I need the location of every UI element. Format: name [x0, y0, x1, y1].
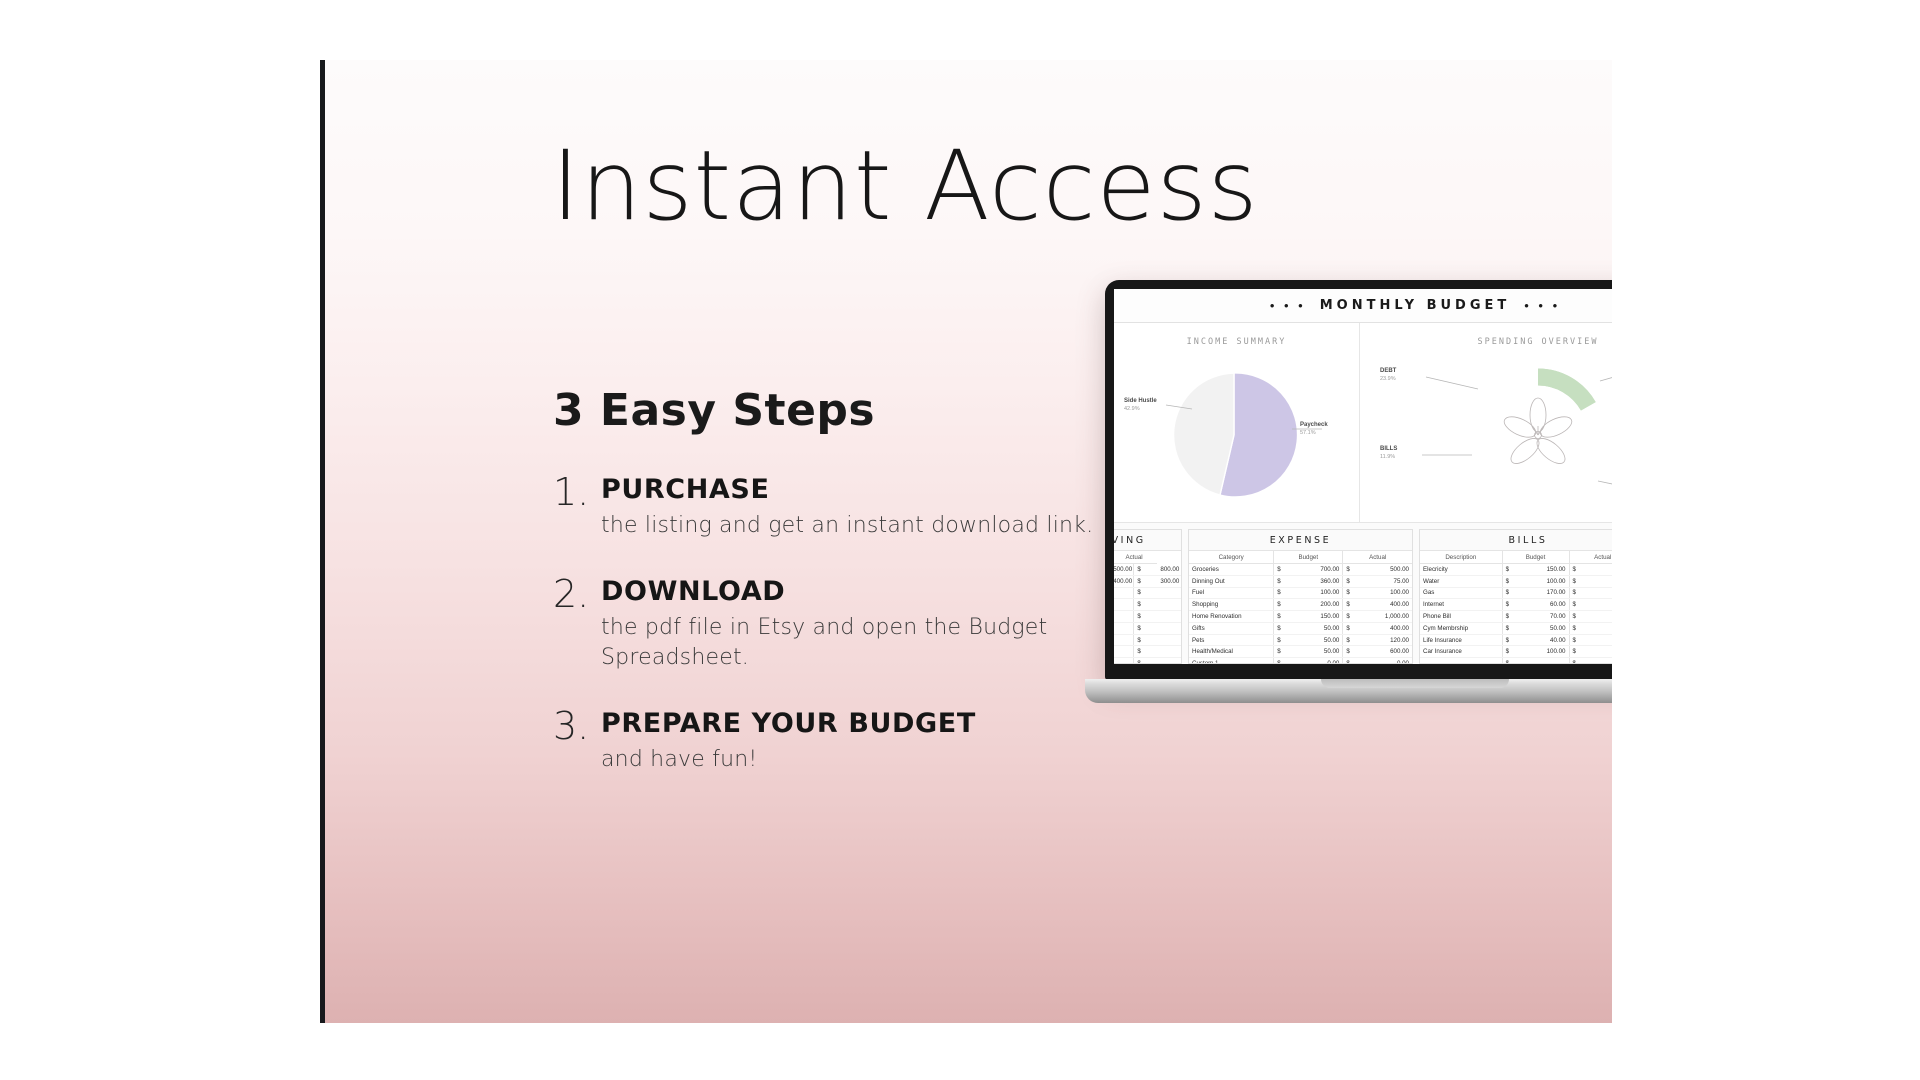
- cell-currency: $: [1502, 587, 1535, 599]
- cell-budget: 0.00: [1308, 658, 1343, 664]
- cell-actual: [1157, 611, 1181, 623]
- cell-currency: $: [1134, 658, 1158, 664]
- cell-category: Elecricity: [1420, 564, 1502, 576]
- step-item-2: 2. DOWNLOAD the pdf file in Etsy and ope…: [553, 576, 1113, 672]
- step-title: DOWNLOAD: [601, 576, 1113, 607]
- cell-currency: $: [1134, 611, 1158, 623]
- table-row[interactable]: $400.00$300.00: [1114, 575, 1181, 587]
- cell-currency: $: [1343, 575, 1378, 587]
- table-row[interactable]: Car Insurance$100.00$120.00: [1420, 646, 1612, 658]
- cell-actual: 200.00: [1603, 587, 1613, 599]
- cell-category: Dinning Out: [1189, 575, 1274, 587]
- cell-currency: $: [1343, 564, 1378, 576]
- cell-actual: 120.00: [1377, 634, 1412, 646]
- table-row[interactable]: $500.00$800.00: [1114, 564, 1181, 576]
- cell-currency: $: [1569, 587, 1602, 599]
- cell-currency: $: [1502, 575, 1535, 587]
- table-row[interactable]: Pets$50.00$120.00: [1189, 634, 1412, 646]
- cell-budget: 50.00: [1308, 634, 1343, 646]
- cell-currency: $: [1569, 658, 1602, 664]
- bills-col-description: Description: [1420, 551, 1502, 564]
- step-description: and have fun!: [601, 745, 1113, 774]
- expense-col-category: Category: [1189, 551, 1274, 564]
- cell-category: [1420, 658, 1502, 664]
- cell-actual: 500.00: [1377, 564, 1412, 576]
- charts-row: INCOME SUMMARY Paycheck: [1114, 323, 1612, 523]
- pie-label-paycheck-name: Paycheck: [1300, 421, 1328, 429]
- cell-category: Pets: [1189, 634, 1274, 646]
- table-row[interactable]: Life Insurance$40.00$50.00: [1420, 634, 1612, 646]
- cell-budget: 70.00: [1536, 611, 1569, 623]
- table-row[interactable]: Groceries$700.00$500.00: [1189, 564, 1412, 576]
- cell-budget: 150.00: [1536, 564, 1569, 576]
- step-number: 3.: [553, 704, 589, 748]
- cell-actual: 75.00: [1377, 575, 1412, 587]
- bills-col-budget: Budget: [1502, 551, 1569, 564]
- donut-label-debt: DEBT 23.9%: [1380, 367, 1396, 384]
- cell-actual: 50.00: [1603, 634, 1613, 646]
- table-row[interactable]: Health/Medical$50.00$600.00: [1189, 646, 1412, 658]
- cell-currency: $: [1134, 599, 1158, 611]
- donut-label-debt-value: 23.9%: [1380, 376, 1396, 382]
- cell-currency: $: [1134, 587, 1158, 599]
- pie-label-side-hustle-value: 42.9%: [1124, 406, 1140, 412]
- bills-table-caption: BILLS: [1420, 530, 1612, 551]
- cell-budget: [1114, 587, 1134, 599]
- marketing-slide: Instant Access 3 Easy Steps 1. PURCHASE …: [320, 60, 1612, 1023]
- cell-currency: $: [1502, 564, 1535, 576]
- cell-actual: 1,000.00: [1377, 611, 1412, 623]
- table-row[interactable]: $$: [1420, 658, 1612, 664]
- expense-col-budget: Budget: [1274, 551, 1343, 564]
- cell-actual: 600.00: [1377, 646, 1412, 658]
- income-summary-panel: INCOME SUMMARY Paycheck: [1114, 323, 1360, 522]
- cell-currency: $: [1134, 622, 1158, 634]
- cell-currency: $: [1502, 658, 1535, 664]
- pie-label-side-hustle: Side Hustle 42.9%: [1124, 397, 1157, 414]
- table-row[interactable]: Shopping$200.00$400.00: [1189, 599, 1412, 611]
- cell-budget: [1536, 658, 1569, 664]
- cell-category: Shopping: [1189, 599, 1274, 611]
- cell-budget: 150.00: [1308, 611, 1343, 623]
- steps-block: 3 Easy Steps 1. PURCHASE the listing and…: [553, 385, 1113, 810]
- table-row[interactable]: $$: [1114, 611, 1181, 623]
- cell-actual: [1157, 599, 1181, 611]
- step-description: the pdf file in Etsy and open the Budget…: [601, 613, 1113, 672]
- step-item-3: 3. PREPARE YOUR BUDGET and have fun!: [553, 708, 1113, 774]
- cell-currency: $: [1343, 634, 1378, 646]
- cell-budget: [1114, 634, 1134, 646]
- cell-category: Phone Bill: [1420, 611, 1502, 623]
- spreadsheet-title: MONTHLY BUDGET: [1320, 298, 1511, 313]
- cell-currency: $: [1274, 658, 1309, 664]
- table-row[interactable]: Water$100.00$75.00: [1420, 575, 1612, 587]
- table-row[interactable]: $$: [1114, 587, 1181, 599]
- laptop-notch: [1321, 679, 1509, 688]
- cell-budget: 100.00: [1308, 587, 1343, 599]
- cell-currency: $: [1569, 634, 1602, 646]
- donut-label-bills-name: BILLS: [1380, 445, 1397, 453]
- cell-currency: $: [1274, 646, 1309, 658]
- cell-category: Health/Medical: [1189, 646, 1274, 658]
- budget-spreadsheet: • • • MONTHLY BUDGET • • • INCOME SUMMAR…: [1114, 289, 1612, 664]
- bills-table-card: BILLS Description Budget Actual Elecrici…: [1419, 529, 1612, 664]
- cell-currency: $: [1134, 634, 1158, 646]
- cell-currency: $: [1569, 611, 1602, 623]
- expense-col-actual: Actual: [1343, 551, 1412, 564]
- cell-budget: 50.00: [1308, 622, 1343, 634]
- cell-currency: $: [1502, 599, 1535, 611]
- pie-label-paycheck: Paycheck 57.1%: [1300, 421, 1328, 438]
- table-row[interactable]: Dinning Out$360.00$75.00: [1189, 575, 1412, 587]
- cell-currency: $: [1134, 575, 1158, 587]
- table-row[interactable]: Home Renovation$150.00$1,000.00: [1189, 611, 1412, 623]
- saving-table-card: SAVING Budget Actual $500.00$800.00$400.…: [1114, 529, 1182, 664]
- donut-label-bills: BILLS 11.9%: [1380, 445, 1397, 462]
- cell-actual: 100.00: [1603, 564, 1613, 576]
- cell-budget: 50.00: [1536, 622, 1569, 634]
- spending-donut-chart: [1360, 323, 1612, 523]
- table-row[interactable]: Cym Membrship$50.00$50.00: [1420, 622, 1612, 634]
- cell-budget: [1114, 622, 1134, 634]
- cell-category: Cym Membrship: [1420, 622, 1502, 634]
- cell-budget: [1114, 658, 1134, 664]
- saving-table-caption: SAVING: [1114, 530, 1181, 551]
- cell-actual: [1157, 646, 1181, 658]
- cell-category: Gas: [1420, 587, 1502, 599]
- table-row[interactable]: $$: [1114, 646, 1181, 658]
- cell-currency: $: [1343, 611, 1378, 623]
- expense-table-caption: EXPENSE: [1189, 530, 1412, 551]
- table-row[interactable]: Fuel$100.00$100.00: [1189, 587, 1412, 599]
- cell-currency: $: [1274, 634, 1309, 646]
- step-number: 1.: [553, 470, 589, 514]
- pie-label-side-hustle-name: Side Hustle: [1124, 397, 1157, 405]
- cell-currency: $: [1274, 611, 1309, 623]
- table-header-row: Description Budget Actual: [1420, 551, 1612, 564]
- cell-actual: [1157, 658, 1181, 664]
- cell-actual: [1603, 658, 1613, 664]
- cell-currency: $: [1502, 611, 1535, 623]
- cell-budget: 400.00: [1114, 575, 1134, 587]
- page-title: Instant Access: [325, 138, 1485, 234]
- cell-budget: 700.00: [1308, 564, 1343, 576]
- spreadsheet-header: • • • MONTHLY BUDGET • • •: [1114, 289, 1612, 323]
- cell-currency: $: [1343, 622, 1378, 634]
- table-row[interactable]: Elecricity$150.00$100.00: [1420, 564, 1612, 576]
- laptop-mockup: • • • MONTHLY BUDGET • • • INCOME SUMMAR…: [1085, 280, 1612, 760]
- donut-label-bills-value: 11.9%: [1380, 454, 1395, 460]
- steps-heading: 3 Easy Steps: [553, 385, 1113, 436]
- cell-category: Water: [1420, 575, 1502, 587]
- cell-currency: $: [1343, 658, 1378, 664]
- table-header-row: Category Budget Actual: [1189, 551, 1412, 564]
- bills-col-actual: Actual: [1569, 551, 1612, 564]
- cell-category: Car Insurance: [1420, 646, 1502, 658]
- cell-budget: [1114, 599, 1134, 611]
- cell-actual: 75.00: [1603, 575, 1613, 587]
- table-row[interactable]: $$: [1114, 622, 1181, 634]
- table-row[interactable]: $$: [1114, 658, 1181, 664]
- cell-actual: 0.00: [1377, 658, 1412, 664]
- cell-actual: [1157, 587, 1181, 599]
- tables-row: SAVING Budget Actual $500.00$800.00$400.…: [1114, 523, 1612, 664]
- cell-actual: 300.00: [1157, 575, 1181, 587]
- cell-budget: 60.00: [1536, 599, 1569, 611]
- step-title: PREPARE YOUR BUDGET: [601, 708, 1113, 739]
- cell-category: Fuel: [1189, 587, 1274, 599]
- dots-right-icon: • • •: [1510, 298, 1574, 313]
- cell-budget: 100.00: [1536, 575, 1569, 587]
- cell-currency: $: [1343, 587, 1378, 599]
- cell-currency: $: [1502, 634, 1535, 646]
- table-row[interactable]: $$: [1114, 634, 1181, 646]
- cell-actual: 120.00: [1603, 646, 1613, 658]
- cell-currency: $: [1274, 587, 1309, 599]
- cell-actual: 400.00: [1377, 622, 1412, 634]
- cell-category: Internet: [1420, 599, 1502, 611]
- cell-category: Gifts: [1189, 622, 1274, 634]
- cell-budget: 40.00: [1536, 634, 1569, 646]
- cell-currency: $: [1274, 599, 1309, 611]
- cell-currency: $: [1343, 646, 1378, 658]
- laptop-screen: • • • MONTHLY BUDGET • • • INCOME SUMMAR…: [1114, 289, 1612, 664]
- cell-budget: [1114, 646, 1134, 658]
- cell-actual: 400.00: [1377, 599, 1412, 611]
- step-title: PURCHASE: [601, 474, 1113, 505]
- laptop-base: [1085, 679, 1612, 703]
- table-row[interactable]: Internet$60.00$60.00: [1420, 599, 1612, 611]
- cell-actual: 100.00: [1377, 587, 1412, 599]
- flower-icon: [1501, 398, 1575, 468]
- cell-category: Home Renovation: [1189, 611, 1274, 623]
- dots-left-icon: • • •: [1256, 298, 1320, 313]
- pie-label-paycheck-value: 57.1%: [1300, 430, 1316, 436]
- cell-budget: 500.00: [1114, 564, 1134, 576]
- step-number: 2.: [553, 572, 589, 616]
- table-row[interactable]: Gifts$50.00$400.00: [1189, 622, 1412, 634]
- saving-col-actual: Actual: [1114, 551, 1157, 564]
- cell-currency: $: [1569, 646, 1602, 658]
- step-item-1: 1. PURCHASE the listing and get an insta…: [553, 474, 1113, 540]
- cell-category: Groceries: [1189, 564, 1274, 576]
- cell-currency: $: [1134, 646, 1158, 658]
- cell-actual: 70.00: [1603, 611, 1613, 623]
- saving-table: Budget Actual $500.00$800.00$400.00$300.…: [1114, 551, 1181, 664]
- cell-budget: 100.00: [1536, 646, 1569, 658]
- cell-budget: 200.00: [1308, 599, 1343, 611]
- cell-currency: $: [1274, 622, 1309, 634]
- cell-budget: 50.00: [1308, 646, 1343, 658]
- expense-table: Category Budget Actual Groceries$700.00$…: [1189, 551, 1412, 664]
- cell-currency: $: [1343, 599, 1378, 611]
- table-row[interactable]: Custom 1$0.00$0.00: [1189, 658, 1412, 664]
- cell-currency: $: [1134, 564, 1158, 576]
- expense-table-card: EXPENSE Category Budget Actual Groceries…: [1188, 529, 1413, 664]
- spending-overview-panel: SPENDING OVERVIEW: [1360, 323, 1612, 522]
- table-row[interactable]: Phone Bill$70.00$70.00: [1420, 611, 1612, 623]
- cell-category: Custom 1: [1189, 658, 1274, 664]
- bills-table: Description Budget Actual Elecricity$150…: [1420, 551, 1612, 664]
- cell-currency: $: [1274, 575, 1309, 587]
- cell-currency: $: [1569, 564, 1602, 576]
- table-header-row: Budget Actual: [1114, 551, 1181, 564]
- cell-actual: [1157, 634, 1181, 646]
- cell-currency: $: [1274, 564, 1309, 576]
- cell-category: Life Insurance: [1420, 634, 1502, 646]
- table-row[interactable]: Gas$170.00$200.00: [1420, 587, 1612, 599]
- donut-label-debt-name: DEBT: [1380, 367, 1396, 375]
- cell-actual: 50.00: [1603, 622, 1613, 634]
- cell-actual: [1157, 622, 1181, 634]
- cell-currency: $: [1569, 575, 1602, 587]
- cell-currency: $: [1502, 646, 1535, 658]
- table-row[interactable]: $$: [1114, 599, 1181, 611]
- cell-currency: $: [1569, 599, 1602, 611]
- cell-currency: $: [1502, 622, 1535, 634]
- cell-actual: 800.00: [1157, 564, 1181, 576]
- cell-budget: 170.00: [1536, 587, 1569, 599]
- cell-budget: 360.00: [1308, 575, 1343, 587]
- laptop-lid: • • • MONTHLY BUDGET • • • INCOME SUMMAR…: [1105, 280, 1612, 680]
- cell-currency: $: [1569, 622, 1602, 634]
- cell-actual: 60.00: [1603, 599, 1613, 611]
- cell-budget: [1114, 611, 1134, 623]
- step-description: the listing and get an instant download …: [601, 511, 1113, 540]
